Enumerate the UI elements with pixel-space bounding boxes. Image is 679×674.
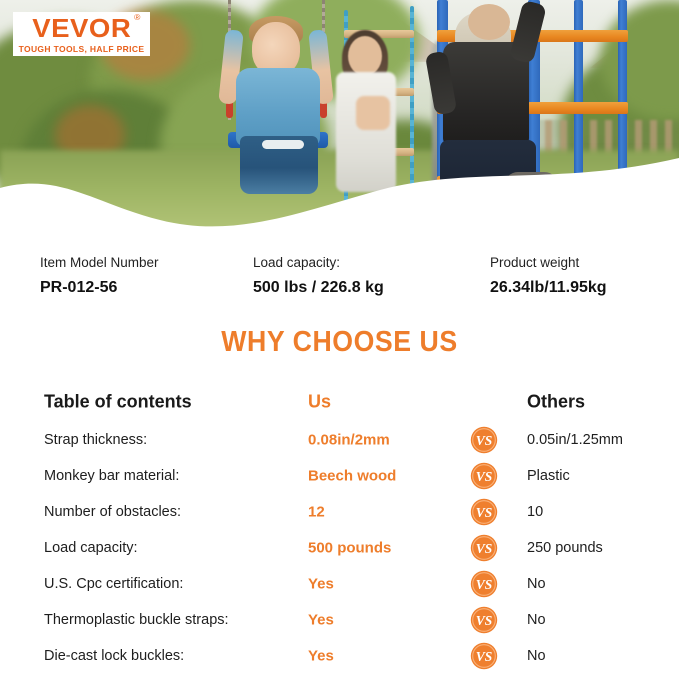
row-feature-label: Strap thickness: — [44, 432, 147, 448]
svg-text:VS: VS — [476, 613, 493, 628]
row-us-value: 12 — [308, 504, 325, 521]
comparison-table: Table of contents Us Others Strap thickn… — [0, 382, 679, 674]
table-row: Number of obstacles: 12 VS 10 — [0, 494, 679, 530]
brand-name: VEVOR — [32, 13, 131, 43]
table-row: Monkey bar material: Beech wood VS Plast… — [0, 458, 679, 494]
row-us-value: Beech wood — [308, 468, 396, 485]
svg-text:VS: VS — [476, 433, 493, 448]
table-row: Thermoplastic buckle straps: Yes VS No — [0, 602, 679, 638]
row-us-value: 0.08in/2mm — [308, 432, 390, 449]
row-us-value: Yes — [308, 576, 334, 593]
spec-value: 26.34lb/11.95kg — [490, 278, 607, 297]
table-header-row: Table of contents Us Others — [0, 382, 679, 422]
spec-product-weight: Product weight 26.34lb/11.95kg — [490, 255, 607, 297]
product-spec-strip: Item Model Number PR-012-56 Load capacit… — [0, 255, 679, 310]
row-others-value: No — [527, 612, 546, 628]
svg-text:VS: VS — [476, 649, 493, 664]
spec-label: Product weight — [490, 255, 607, 271]
row-us-value: Yes — [308, 648, 334, 665]
row-others-value: No — [527, 648, 546, 664]
child-head — [468, 4, 510, 40]
brand-tagline: TOUGH TOOLS, HALF PRICE — [19, 45, 145, 54]
woman-head — [348, 36, 382, 76]
vs-badge-icon: VS — [470, 534, 498, 562]
spec-item-model-number: Item Model Number PR-012-56 — [40, 255, 159, 297]
table-row: U.S. Cpc certification: Yes VS No — [0, 566, 679, 602]
row-feature-label: Die-cast lock buckles: — [44, 648, 184, 664]
spec-value: PR-012-56 — [40, 278, 159, 297]
svg-text:VS: VS — [476, 505, 493, 520]
brand-wordmark: VEVOR® — [32, 15, 131, 41]
svg-text:VS: VS — [476, 541, 493, 556]
row-others-value: No — [527, 576, 546, 592]
column-header-us: Us — [308, 392, 331, 413]
woman-body — [336, 72, 396, 192]
spec-value: 500 lbs / 226.8 kg — [253, 278, 384, 297]
boy-belt — [262, 140, 304, 149]
row-feature-label: Load capacity: — [44, 540, 138, 556]
row-others-value: 250 pounds — [527, 540, 603, 556]
row-us-value: Yes — [308, 612, 334, 629]
vs-badge-icon: VS — [470, 462, 498, 490]
vs-badge-icon: VS — [470, 606, 498, 634]
row-others-value: 0.05in/1.25mm — [527, 432, 623, 448]
woman-hands — [356, 96, 390, 130]
column-header-others: Others — [527, 392, 585, 413]
svg-text:VS: VS — [476, 577, 493, 592]
boy-torso — [236, 68, 320, 146]
vs-badge-icon: VS — [470, 498, 498, 526]
registered-trademark-icon: ® — [134, 14, 141, 22]
row-feature-label: Thermoplastic buckle straps: — [44, 612, 229, 628]
spec-label: Item Model Number — [40, 255, 159, 271]
row-others-value: 10 — [527, 504, 543, 520]
vs-badge-icon: VS — [470, 642, 498, 670]
table-row: Die-cast lock buckles: Yes VS No — [0, 638, 679, 674]
table-row: Strap thickness: 0.08in/2mm VS 0.05in/1.… — [0, 422, 679, 458]
spec-load-capacity: Load capacity: 500 lbs / 226.8 kg — [253, 255, 384, 297]
orange-rung — [528, 30, 628, 42]
child-shoe — [504, 172, 560, 200]
vs-badge-icon: VS — [470, 570, 498, 598]
row-feature-label: U.S. Cpc certification: — [44, 576, 183, 592]
spec-label: Load capacity: — [253, 255, 384, 271]
vs-badge-icon: VS — [470, 426, 498, 454]
column-header-feature: Table of contents — [44, 392, 192, 413]
row-others-value: Plastic — [527, 468, 570, 484]
table-row: Load capacity: 500 pounds VS 250 pounds — [0, 530, 679, 566]
vevor-logo: VEVOR® TOUGH TOOLS, HALF PRICE — [13, 12, 150, 56]
svg-text:VS: VS — [476, 469, 493, 484]
section-title-why-choose-us: WHY CHOOSE US — [27, 328, 652, 357]
row-us-value: 500 pounds — [308, 540, 391, 557]
orange-rung — [528, 102, 628, 114]
row-feature-label: Monkey bar material: — [44, 468, 179, 484]
row-feature-label: Number of obstacles: — [44, 504, 181, 520]
